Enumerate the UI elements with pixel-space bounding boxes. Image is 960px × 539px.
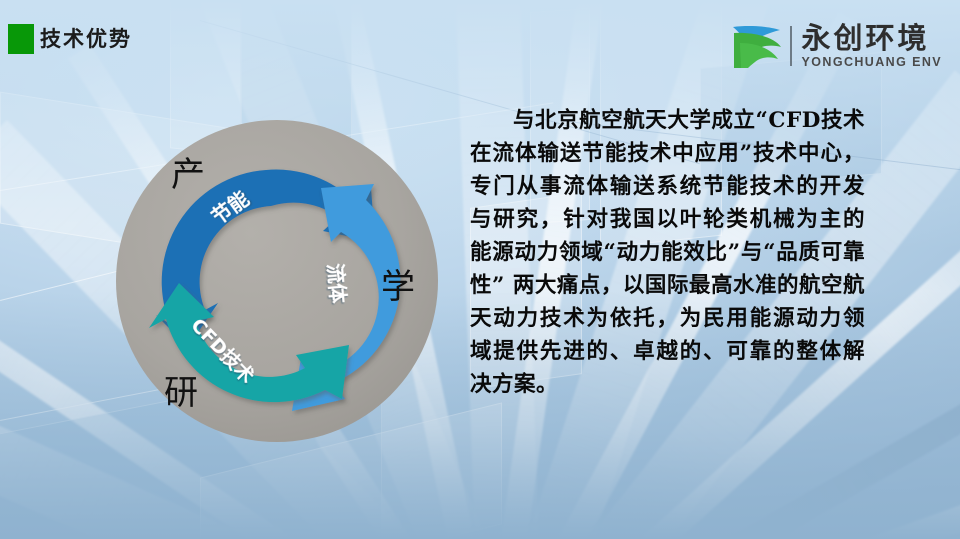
logo-text: 永创环境 YONGCHUANG ENV (802, 24, 942, 69)
header-marker-icon (8, 24, 34, 54)
ring-label-academia: 学 (381, 267, 415, 307)
segment-label-fluid: 流体 (323, 262, 350, 305)
page-title: 技术优势 (40, 23, 132, 53)
slide: 技术优势 永创环境 YONGCHUANG ENV (0, 0, 960, 539)
leaf-icon (730, 23, 784, 69)
logo-name-en: YONGCHUANG ENV (802, 56, 942, 69)
company-logo: 永创环境 YONGCHUANG ENV (730, 18, 942, 74)
ring-label-research: 研 (164, 373, 198, 413)
body-paragraph: 与北京航空航天大学成立“CFD技术在流体输送节能技术中应用”技术中心，专门从事流… (470, 104, 865, 401)
ring-label-industry: 产 (171, 155, 205, 195)
logo-name-cn: 永创环境 (802, 24, 930, 53)
logo-divider (790, 26, 792, 66)
cycle-diagram: 节能 流体 CFD技术 产 学 研 (113, 118, 441, 448)
